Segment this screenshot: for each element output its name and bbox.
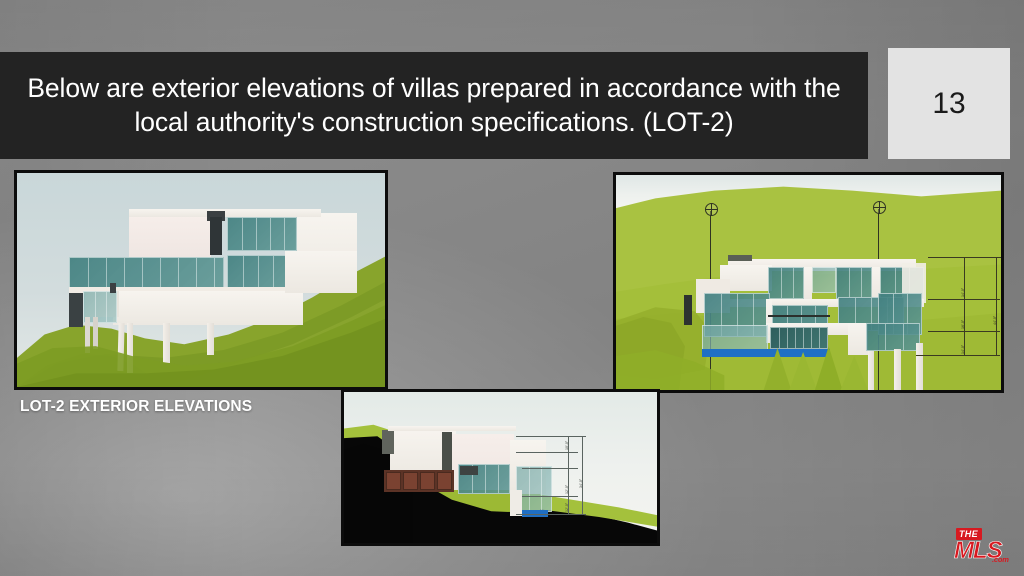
villa-elevation-rendering-right[interactable]: 14'-0" 16'-0" 14'-0" 44'-0" xyxy=(613,172,1004,393)
dim-extension-bottom-right xyxy=(916,355,1000,356)
villa-elevation-rendering-left[interactable] xyxy=(14,170,388,390)
foreground-vegetation-right xyxy=(616,175,1001,390)
foreground-terrain-left xyxy=(17,173,385,387)
dim-extension-bottom-bottom xyxy=(516,514,586,515)
render-left-canvas xyxy=(17,173,385,387)
dim-label-r-total: 44'-0" xyxy=(993,316,997,325)
page-number: 13 xyxy=(932,87,965,121)
header-bar: Below are exterior elevations of villas … xyxy=(0,52,868,159)
dim-extension-top-right xyxy=(928,257,1004,258)
page-number-box: 13 xyxy=(888,48,1010,159)
villa-elevation-rendering-bottom[interactable]: 10'-0" 12'-0" 12'-0" 34'-0" xyxy=(341,389,660,546)
right-lower-pier-bottom xyxy=(510,490,522,516)
garage-door-4 xyxy=(437,472,452,490)
dim-label-r3: 14'-0" xyxy=(961,345,965,354)
dim-label-b-total: 34'-0" xyxy=(579,479,583,488)
dim-label-b3: 12'-0" xyxy=(565,503,569,512)
garage-door-2 xyxy=(403,472,418,490)
dim-line-outer-right xyxy=(996,257,997,355)
render-right-canvas: 14'-0" 16'-0" 14'-0" 44'-0" xyxy=(616,175,1001,390)
render-bottom-canvas: 10'-0" 12'-0" 12'-0" 34'-0" xyxy=(344,392,657,543)
dim-extension-top-bottom xyxy=(516,436,586,437)
dim-extension-2-bottom xyxy=(522,468,578,469)
recess-bottom xyxy=(442,432,452,474)
dim-label-r1: 14'-0" xyxy=(961,288,965,297)
dim-line-outer-bottom xyxy=(582,436,583,514)
garage-door-1 xyxy=(386,472,401,490)
roof-line-bottom xyxy=(388,426,516,431)
dim-label-b1: 10'-0" xyxy=(565,441,569,450)
dim-line-inner-right xyxy=(964,257,965,355)
left-chimney-bottom xyxy=(382,430,394,454)
glass-panel-dark-bottom xyxy=(460,466,478,475)
dim-label-r2: 16'-0" xyxy=(961,320,965,329)
header-title: Below are exterior elevations of villas … xyxy=(18,72,850,139)
dim-extension-3-bottom xyxy=(522,496,578,497)
the-mls-logo[interactable]: THE MLS .com xyxy=(952,528,1014,568)
logo-com-text: .com xyxy=(992,555,1009,564)
image-caption: LOT-2 EXTERIOR ELEVATIONS xyxy=(20,398,252,416)
garage-door-3 xyxy=(420,472,435,490)
dim-label-b2: 12'-0" xyxy=(565,485,569,494)
presentation-slide: Below are exterior elevations of villas … xyxy=(0,0,1024,576)
